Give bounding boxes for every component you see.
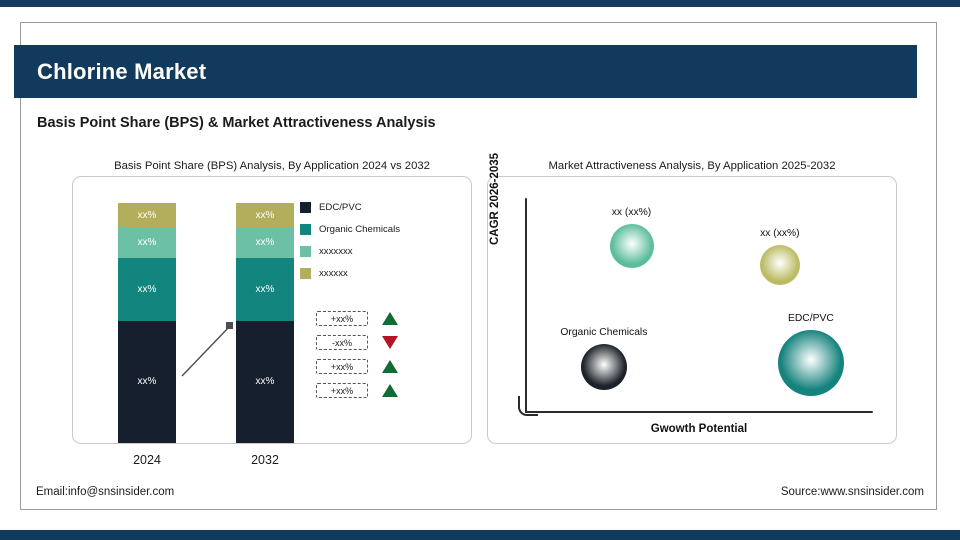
bps-change-value: +xx% — [316, 359, 368, 374]
legend-label: Organic Chemicals — [319, 224, 400, 235]
bar-category-label: 2024 — [112, 453, 182, 467]
legend-swatch — [300, 224, 311, 235]
page-title: Chlorine Market — [37, 59, 206, 85]
bps-legend: EDC/PVCOrganic Chemicalsxxxxxxxxxxxxx — [300, 202, 400, 290]
title-bar: Chlorine Market — [14, 45, 917, 98]
bubble-marker[interactable] — [760, 245, 800, 285]
bottom-accent-bar — [0, 530, 960, 540]
triangle-up-icon — [382, 360, 398, 373]
x-axis-label: Gwowth Potential — [525, 423, 873, 435]
top-accent-bar — [0, 0, 960, 7]
bar-segment: xx% — [236, 258, 294, 320]
legend-swatch — [300, 246, 311, 257]
bubble-marker[interactable] — [610, 224, 654, 268]
bps-change-value: +xx% — [316, 311, 368, 326]
legend-label: xxxxxxx — [319, 246, 353, 257]
stacked-bar: xx%xx%xx%xx% — [118, 203, 176, 443]
legend-item[interactable]: xxxxxxx — [300, 246, 400, 257]
bar-segment: xx% — [118, 258, 176, 320]
triangle-up-icon — [382, 384, 398, 397]
bar-segment-label: xx% — [138, 237, 157, 248]
bar-segment-label: xx% — [256, 237, 275, 248]
bubble-label: xx (xx%) — [557, 207, 707, 218]
y-axis-line — [525, 198, 527, 413]
bps-change-list: +xx%-xx%+xx%+xx% — [316, 311, 398, 407]
bubble-marker[interactable] — [581, 344, 627, 390]
footer-email: Email:info@snsinsider.com — [36, 486, 174, 498]
bubble-label: Organic Chemicals — [529, 327, 679, 338]
axis-corner — [518, 396, 538, 416]
bar-segment-label: xx% — [256, 376, 275, 387]
bubble-marker[interactable] — [778, 330, 844, 396]
bar-segment: xx% — [118, 203, 176, 227]
bar-segment-label: xx% — [138, 376, 157, 387]
stacked-bar: xx%xx%xx%xx% — [236, 203, 294, 443]
legend-item[interactable]: EDC/PVC — [300, 202, 400, 213]
bar-segment-label: xx% — [256, 284, 275, 295]
page-subtitle: Basis Point Share (BPS) & Market Attract… — [37, 115, 436, 131]
triangle-up-icon — [382, 312, 398, 325]
legend-item[interactable]: xxxxxx — [300, 268, 400, 279]
legend-swatch — [300, 202, 311, 213]
legend-label: xxxxxx — [319, 268, 348, 279]
bps-change-row: -xx% — [316, 335, 398, 350]
attractiveness-chart-title: Market Attractiveness Analysis, By Appli… — [487, 160, 897, 172]
bar-category-label: 2032 — [230, 453, 300, 467]
triangle-down-icon — [382, 336, 398, 349]
bps-change-value: -xx% — [316, 335, 368, 350]
x-axis-line — [525, 411, 873, 413]
bar-segment: xx% — [236, 203, 294, 227]
legend-label: EDC/PVC — [319, 202, 362, 213]
bps-change-row: +xx% — [316, 311, 398, 326]
bps-change-row: +xx% — [316, 359, 398, 374]
y-axis-label: CAGR 2026-2035 — [489, 153, 501, 245]
bar-segment: xx% — [236, 227, 294, 258]
bar-segment-label: xx% — [138, 284, 157, 295]
bar-segment: xx% — [118, 227, 176, 258]
legend-item[interactable]: Organic Chemicals — [300, 224, 400, 235]
bar-segment: xx% — [118, 321, 176, 443]
footer-source: Source:www.snsinsider.com — [781, 486, 924, 498]
bubble-label: xx (xx%) — [705, 228, 855, 239]
bps-chart-title: Basis Point Share (BPS) Analysis, By App… — [72, 160, 472, 172]
bar-segment-label: xx% — [256, 210, 275, 221]
bps-change-row: +xx% — [316, 383, 398, 398]
trend-arrow-icon — [178, 318, 240, 380]
bps-change-value: +xx% — [316, 383, 368, 398]
bar-segment: xx% — [236, 321, 294, 443]
bar-segment-label: xx% — [138, 210, 157, 221]
bubble-label: EDC/PVC — [736, 313, 886, 324]
legend-swatch — [300, 268, 311, 279]
